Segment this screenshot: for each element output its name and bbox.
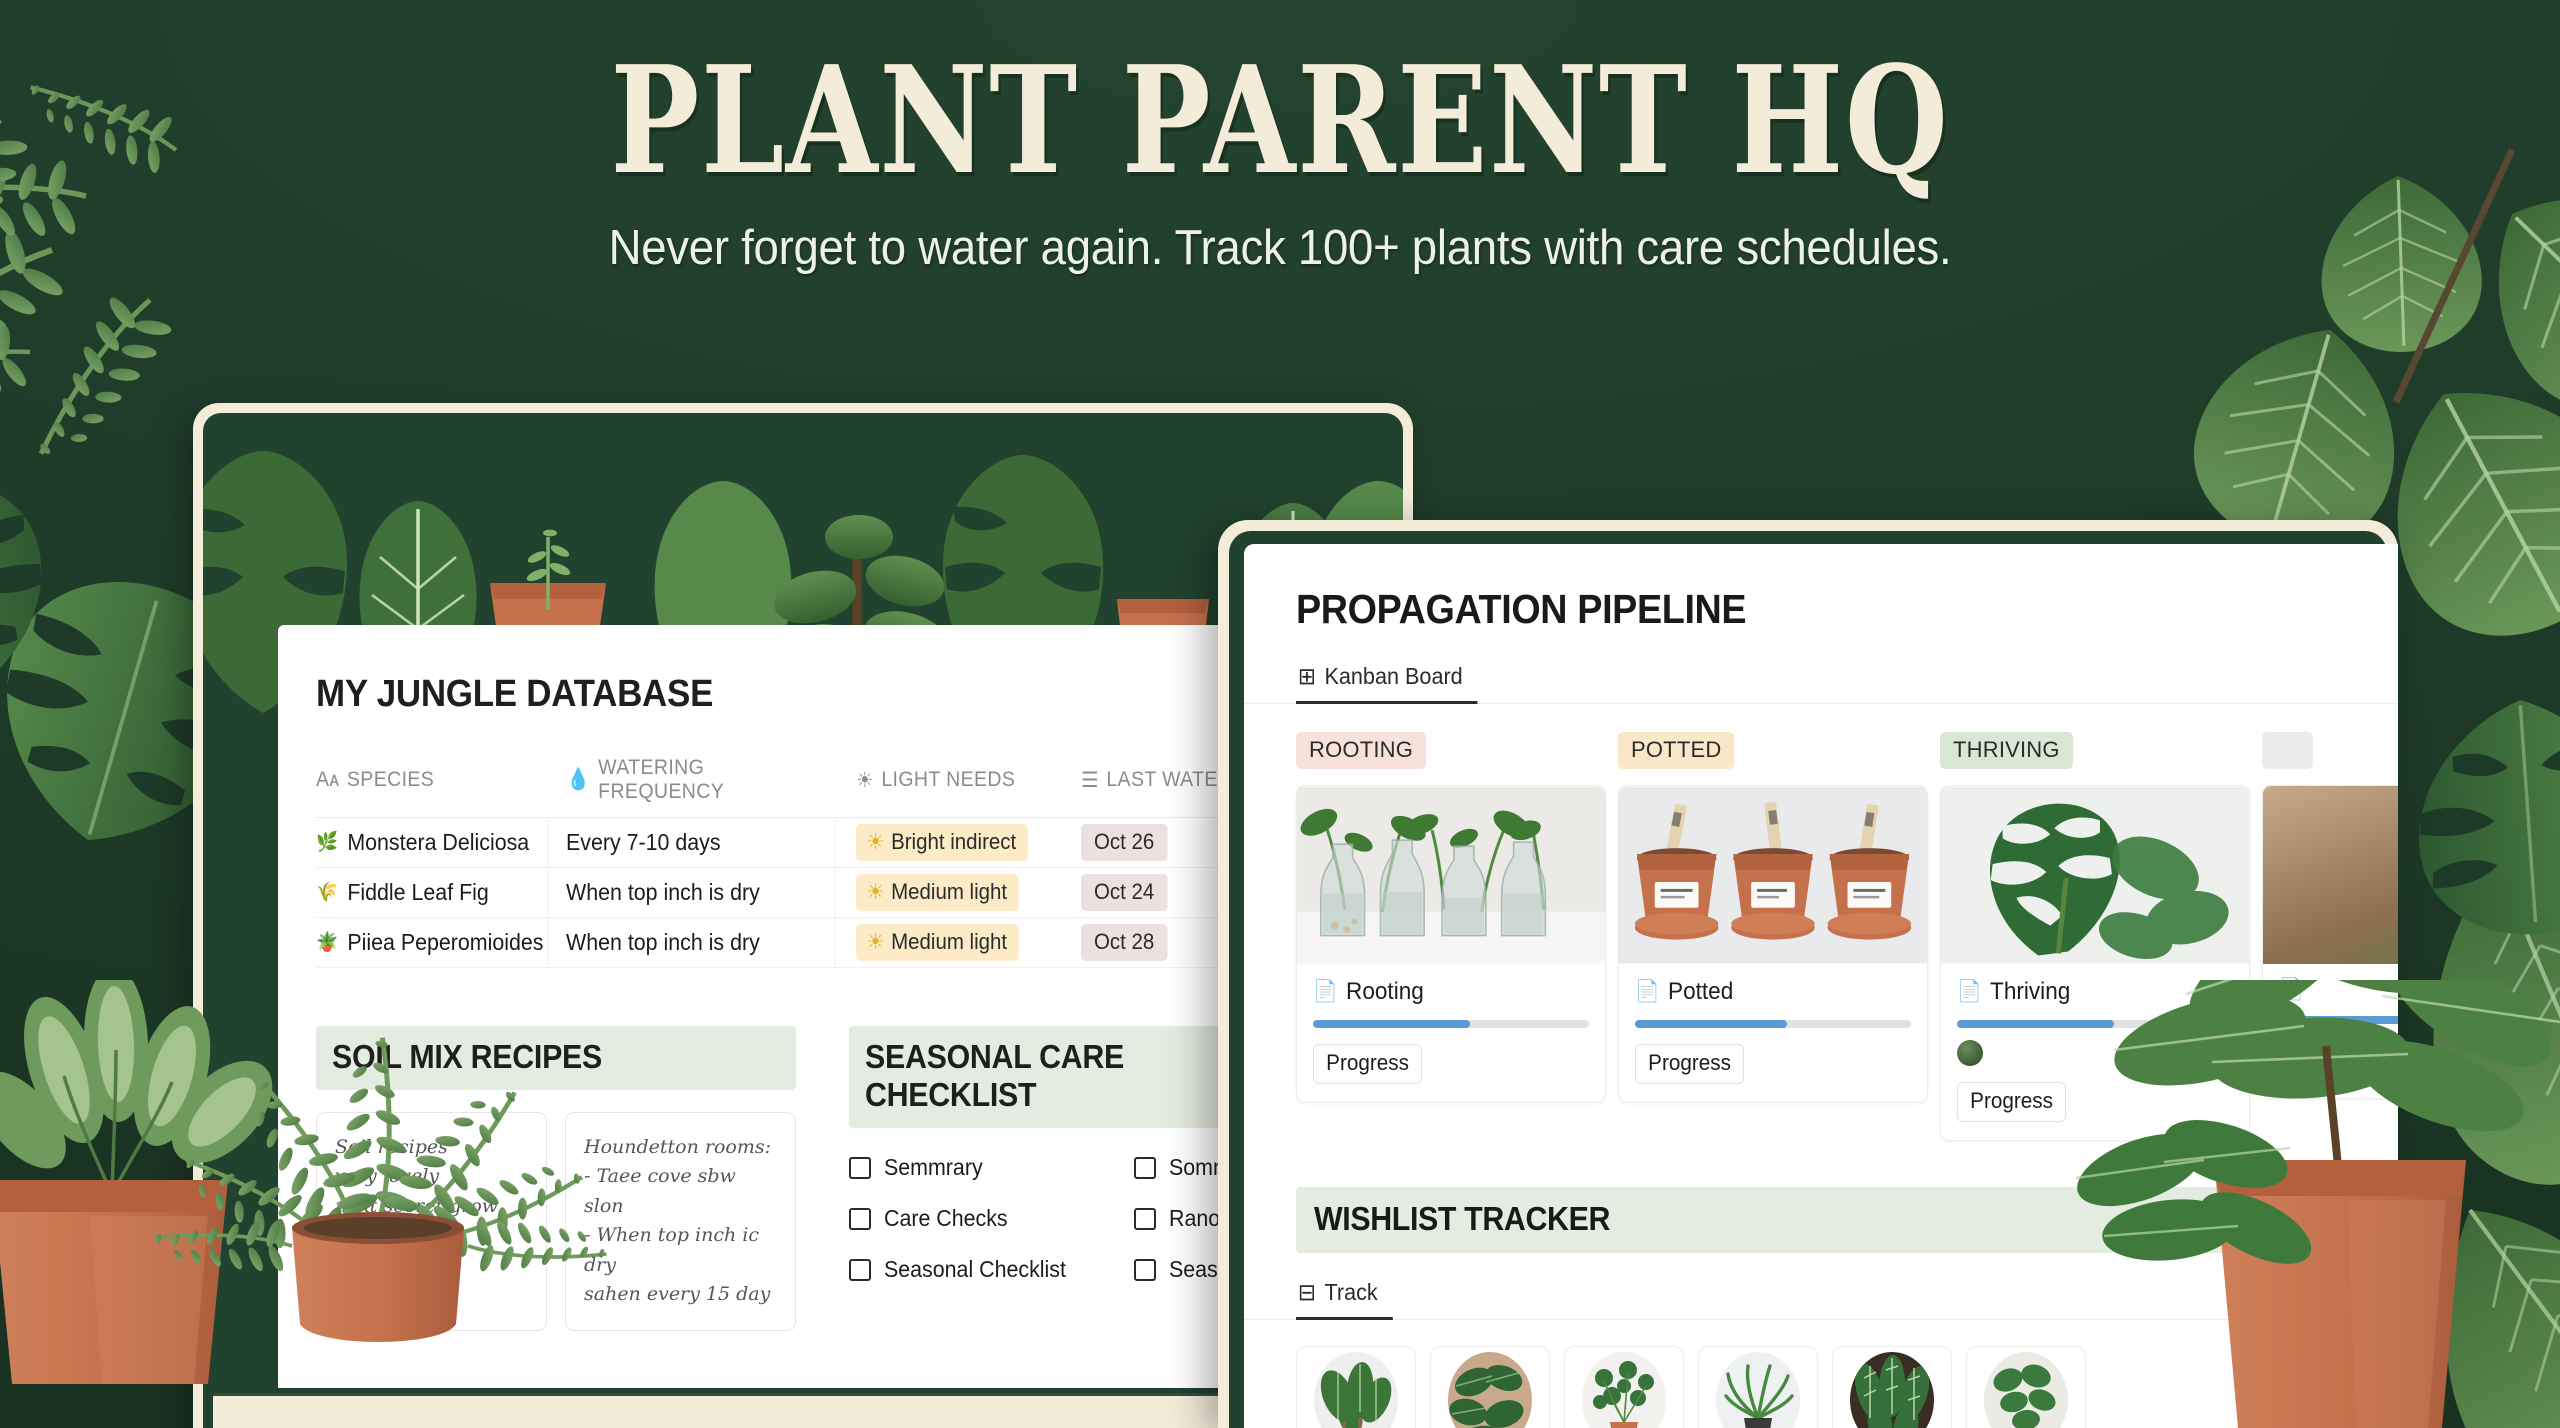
recipe-line: Soil recipes <box>335 1133 528 1162</box>
card-body: 📄 Rooting Progress <box>1297 964 1605 1102</box>
species-name: Fiddle Leaf Fig <box>347 879 488 906</box>
page-icon: 📄 <box>2279 978 2304 1002</box>
water-drop-icon: 💧 <box>566 768 591 792</box>
progress-bar <box>1313 1020 1589 1028</box>
page-title: PLANT PARENT HQ <box>256 46 2304 194</box>
status-badge: ROOTING <box>1296 732 1426 769</box>
wishlist-gallery <box>1244 1320 2398 1428</box>
fiddle-leaf-icon: 🌾 <box>316 883 338 902</box>
column-label: WATERING FREQUENCY <box>598 756 836 804</box>
light-badge: ☀ Medium light <box>856 874 1019 911</box>
checklist-label: Seasonal Checklist <box>884 1256 1066 1283</box>
kanban-board: ROOTING <box>1244 704 2398 1141</box>
column-label: LIGHT NEEDS <box>881 768 1015 792</box>
column-header-light-needs[interactable]: ☀ LIGHT NEEDS <box>856 756 1065 804</box>
progress-bar <box>2279 1016 2398 1024</box>
cell-species[interactable]: 🌿 Monstera Deliciosa <box>316 818 549 868</box>
cell-watering[interactable]: When top inch is dry <box>566 868 836 918</box>
prayer-plant-thumb <box>1448 1352 1532 1428</box>
pilea-icon: 🪴 <box>316 933 338 952</box>
propagation-heading: PROPAGATION PIPELINE <box>1296 586 2310 633</box>
kanban-card[interactable]: 📄 Potted Progress <box>1618 785 1928 1103</box>
wishlist-header: WISHLIST TRACKER <box>1296 1187 2398 1253</box>
card-body: 📄 <box>2263 964 2398 1098</box>
species-name: Monstera Deliciosa <box>347 829 529 856</box>
list-item[interactable] <box>1832 1346 1952 1428</box>
cell-species[interactable]: 🪴 Piiea Peperomioides <box>316 918 549 968</box>
monstera-leaf-icon: 🌿 <box>316 833 338 852</box>
checklist-label: Care Checks <box>884 1205 1008 1232</box>
recipe-line: mixt secret grow das <box>335 1192 528 1251</box>
card-body: 📄 Thriving Progress <box>1941 964 2249 1140</box>
tab-label: Track <box>1324 1279 1377 1306</box>
cuttings-in-glass-bottles-photo <box>1297 786 1605 964</box>
soil-mix-section: SOIL MIX RECIPES Soil recipes very lovel… <box>316 1026 796 1331</box>
list-item[interactable] <box>1966 1346 2086 1428</box>
light-badge: ☀ Bright indirect <box>856 824 1028 861</box>
card-title-row: 📄 Rooting <box>1313 978 1572 1006</box>
checklist-label: Somn <box>1169 1154 1225 1181</box>
light-label: Medium light <box>891 929 1007 955</box>
tablet-app-window: PROPAGATION PIPELINE ⊞ Kanban Board ROOT… <box>1244 544 2398 1428</box>
progress-button[interactable] <box>2279 1040 2323 1080</box>
kanban-card[interactable]: 📄 Rooting Progress <box>1296 785 1606 1103</box>
seasonal-checklist-heading: SEASONAL CARE CHECKLIST <box>865 1038 1277 1114</box>
status-badge: THRIVING <box>1940 732 2073 769</box>
progress-bar <box>1635 1020 1911 1028</box>
card-body: 📄 Potted Progress <box>1619 964 1927 1102</box>
progress-bar <box>1957 1020 2233 1028</box>
checkbox-icon[interactable] <box>849 1259 871 1281</box>
tab-track[interactable]: ⊟ Track <box>1296 1269 1393 1320</box>
sun-icon: ☀ <box>866 879 884 905</box>
list-item[interactable] <box>1296 1346 1416 1428</box>
list-item[interactable] <box>1698 1346 1818 1428</box>
cell-light[interactable]: ☀ Medium light <box>856 874 1065 911</box>
checkbox-icon[interactable] <box>1134 1259 1156 1281</box>
recipe-line: mix good <box>335 1251 528 1280</box>
recipe-line: very lovely <box>335 1162 528 1191</box>
wishlist-heading: WISHLIST TRACKER <box>1314 1200 2295 1238</box>
light-badge: ☀ Medium light <box>856 924 1019 961</box>
recipe-line: - When top inch ic dry <box>584 1221 777 1280</box>
kanban-card[interactable]: 📄 Thriving Progress <box>1940 785 2250 1141</box>
tablet-device: PROPAGATION PIPELINE ⊞ Kanban Board ROOT… <box>1218 520 2398 1428</box>
pilea-thumb <box>1582 1352 1666 1428</box>
labeled-terracotta-pots-photo <box>1619 786 1927 964</box>
progress-button[interactable]: Progress <box>1957 1082 2066 1122</box>
list-item[interactable]: Care Checks <box>849 1205 1080 1232</box>
sun-icon: ☀ <box>866 929 884 955</box>
kanban-column-potted: POTTED <box>1618 732 1928 1141</box>
recipe-card[interactable]: Soil recipes very lovely mixt secret gro… <box>316 1112 547 1331</box>
recipe-line: sahen every 15 day <box>584 1280 777 1309</box>
calathea-thumb <box>1314 1352 1398 1428</box>
soil-mix-header: SOIL MIX RECIPES <box>316 1026 796 1090</box>
status-badge: POTTED <box>1618 732 1734 769</box>
table-grid-icon: ⊞ <box>1298 663 1316 690</box>
checkbox-icon[interactable] <box>849 1208 871 1230</box>
page-subtitle: Never forget to water again. Track 100+ … <box>90 220 2471 276</box>
checklist-column-left: Semmrary Care Checks Seasonal Checklist <box>849 1154 1080 1307</box>
soil-mix-heading: SOIL MIX RECIPES <box>332 1038 744 1076</box>
cell-species[interactable]: 🌾 Fiddle Leaf Fig <box>316 868 549 918</box>
spider-plant-thumb <box>1716 1352 1800 1428</box>
propagation-section: PROPAGATION PIPELINE ⊞ Kanban Board <box>1244 544 2398 704</box>
cell-watering[interactable]: Every 7-10 days <box>566 818 836 868</box>
gallery-view-icon: ⊟ <box>1298 1279 1316 1306</box>
kanban-column-thriving: THRIVING <box>1940 732 2250 1141</box>
list-item[interactable] <box>1430 1346 1550 1428</box>
column-header-watering-frequency[interactable]: 💧 WATERING FREQUENCY <box>566 756 836 804</box>
pothos-thumb <box>1984 1352 2068 1428</box>
checklist-label: Semmrary <box>884 1154 983 1181</box>
species-name: Piiea Peperomioides <box>347 929 543 956</box>
date-badge: Oct 24 <box>1081 874 1167 911</box>
date-badge: Oct 26 <box>1081 824 1167 861</box>
plant-photo <box>2263 786 2398 964</box>
recipe-line: - Taee cove sbw slon <box>584 1162 777 1221</box>
card-title-row: 📄 <box>2279 978 2398 1002</box>
cell-light[interactable]: ☀ Medium light <box>856 924 1065 961</box>
kanban-column-rooting: ROOTING <box>1296 732 1606 1141</box>
progress-button[interactable]: Progress <box>1313 1044 1422 1084</box>
checkbox-icon[interactable] <box>1134 1208 1156 1230</box>
kanban-column-hidden: 📄 <box>2262 732 2398 1141</box>
card-title-row: 📄 Thriving <box>1957 978 2216 1006</box>
avatar[interactable] <box>1957 1040 1983 1066</box>
checkbox-icon[interactable] <box>849 1157 871 1179</box>
cell-light[interactable]: ☀ Bright indirect <box>856 824 1065 861</box>
tab-label: Kanban Board <box>1324 663 1462 690</box>
card-title: Rooting <box>1346 978 1424 1006</box>
list-item[interactable]: Semmrary <box>849 1154 1080 1181</box>
light-label: Bright indirect <box>891 829 1016 855</box>
jungle-database-heading: MY JUNGLE DATABASE <box>316 673 1316 716</box>
watering-text: Every 7-10 days <box>566 829 721 856</box>
light-label: Medium light <box>891 879 1007 905</box>
list-lines-icon: ☰ <box>1081 768 1099 793</box>
list-item[interactable]: Seasonal Checklist <box>849 1256 1080 1283</box>
page-icon: 📄 <box>1313 980 1338 1004</box>
sun-icon: ☀ <box>866 829 884 855</box>
page-icon: 📄 <box>1635 980 1660 1004</box>
monstera-plant-photo <box>1941 786 2249 964</box>
card-title: Potted <box>1668 978 1733 1006</box>
poster-canvas: PLANT PARENT HQ Never forget to water ag… <box>0 0 2560 1428</box>
tab-kanban-board[interactable]: ⊞ Kanban Board <box>1296 653 1478 704</box>
column-header-species[interactable]: Aᴀ SPECIES <box>316 756 549 804</box>
text-property-icon: Aᴀ <box>316 768 339 792</box>
cell-watering[interactable]: When top inch is dry <box>566 918 836 968</box>
page-icon: 📄 <box>1957 980 1982 1004</box>
card-title: Thriving <box>1990 978 2070 1006</box>
poster-header: PLANT PARENT HQ Never forget to water ag… <box>0 46 2560 276</box>
watering-text: When top inch is dry <box>566 929 760 956</box>
recipe-card[interactable]: Houndetton rooms: - Taee cove sbw slon -… <box>565 1112 796 1331</box>
card-title-row: 📄 Potted <box>1635 978 1894 1006</box>
soil-recipe-cards: Soil recipes very lovely mixt secret gro… <box>316 1112 796 1331</box>
progress-button[interactable]: Progress <box>1635 1044 1744 1084</box>
sun-icon: ☀ <box>856 768 874 793</box>
list-item[interactable] <box>1564 1346 1684 1428</box>
recipe-line: Houndetton rooms: <box>584 1133 777 1162</box>
column-label: SPECIES <box>347 768 434 792</box>
date-badge: Oct 28 <box>1081 924 1167 961</box>
kanban-card[interactable]: 📄 <box>2262 785 2398 1099</box>
watering-text: When top inch is dry <box>566 879 760 906</box>
checkbox-icon[interactable] <box>1134 1157 1156 1179</box>
monitor-chin <box>213 1393 1393 1428</box>
rattlesnake-plant-thumb <box>1850 1352 1934 1428</box>
status-badge <box>2262 732 2313 769</box>
